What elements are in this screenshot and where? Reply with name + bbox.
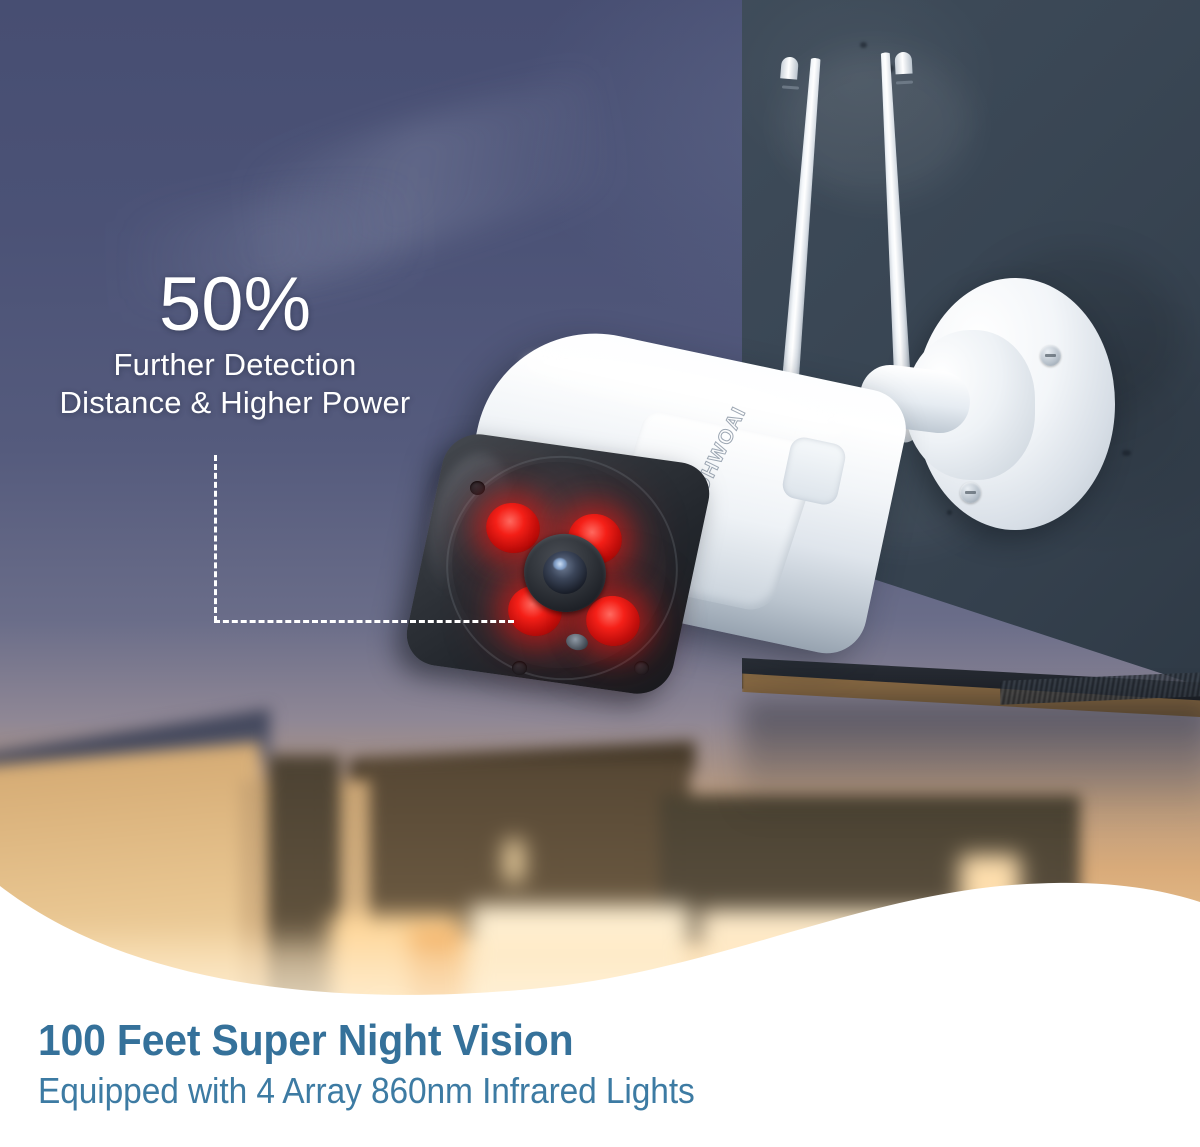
caption-subtitle: Equipped with 4 Array 860nm Infrared Lig… xyxy=(38,1071,1089,1111)
callout-text-block: 50% Further Detection Distance & Higher … xyxy=(0,270,470,423)
callout-percent: 50% xyxy=(0,270,470,340)
callout-leader-vertical xyxy=(214,455,217,622)
antenna-left-ring xyxy=(782,85,799,89)
product-banner: OHWOAI 50% Further Detection Distance & … xyxy=(0,0,1200,1147)
mount-screw-top xyxy=(1040,345,1061,366)
antenna-right-tip xyxy=(894,52,912,75)
wave-divider xyxy=(0,790,1200,1000)
antenna-right xyxy=(877,52,912,400)
antenna-left xyxy=(781,57,824,392)
caption-block: 100 Feet Super Night Vision Equipped wit… xyxy=(38,1016,1168,1112)
caption-title: 100 Feet Super Night Vision xyxy=(38,1016,1089,1065)
camera-lens-glint xyxy=(553,558,567,570)
bezel-screw-hole xyxy=(470,481,485,495)
scene-photo: OHWOAI 50% Further Detection Distance & … xyxy=(0,0,1200,1000)
antenna-left-tip xyxy=(780,56,799,79)
mount-screw-bottom xyxy=(960,482,981,503)
bezel-screw-hole xyxy=(512,661,527,675)
callout-leader-horizontal xyxy=(214,620,514,623)
callout-line-two: Distance & Higher Power xyxy=(0,384,470,422)
callout-line-one: Further Detection xyxy=(0,346,470,384)
antenna-right-ring xyxy=(896,81,913,85)
bezel-screw-hole xyxy=(634,661,649,675)
